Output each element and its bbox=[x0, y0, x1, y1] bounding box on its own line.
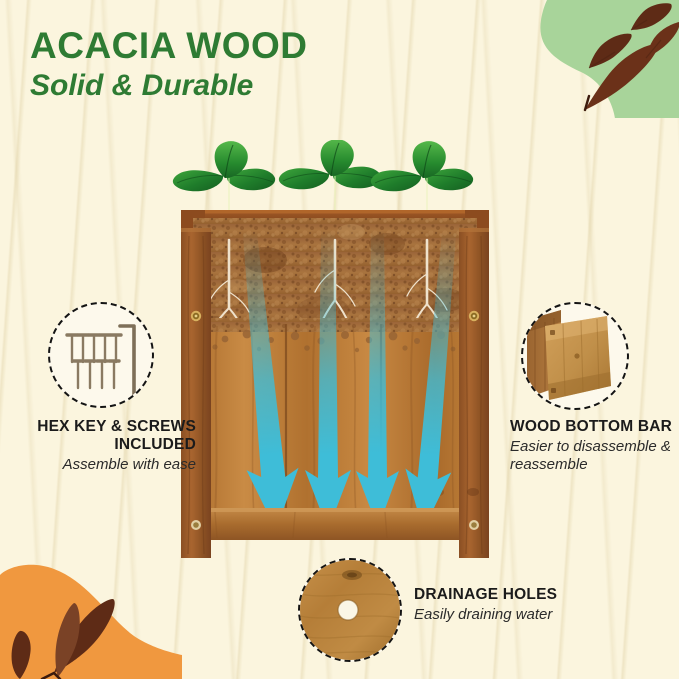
brass-screw bbox=[469, 520, 479, 530]
brass-screw bbox=[469, 311, 479, 321]
callout-circle-hex-key-screws[interactable] bbox=[48, 302, 154, 408]
feature-label-hex-key-screws: HEX KEY & SCREWS INCLUDED Assemble with … bbox=[6, 418, 196, 475]
callout-circle-drainage-holes[interactable] bbox=[298, 558, 402, 662]
feature-label-wood-bottom-bar: WOOD BOTTOM BAR Easier to disassemble & … bbox=[510, 418, 679, 475]
feature-subtext: Assemble with ease bbox=[6, 456, 196, 474]
hex-key-shape bbox=[120, 326, 134, 396]
planter-bottom-rail bbox=[193, 508, 477, 540]
feature-heading: WOOD BOTTOM BAR bbox=[510, 418, 679, 436]
top-right-corner-decoration bbox=[519, 0, 679, 118]
wood-disc-with-hole-icon bbox=[300, 560, 400, 660]
screws-and-hex-key-icon bbox=[50, 304, 152, 406]
title-block: ACACIA WOOD Solid & Durable bbox=[30, 26, 308, 103]
callout-circle-wood-bottom-bar[interactable] bbox=[521, 302, 629, 410]
feature-subtext: Easily draining water bbox=[414, 606, 664, 624]
page-subtitle: Solid & Durable bbox=[30, 69, 308, 103]
feature-heading: HEX KEY & SCREWS INCLUDED bbox=[6, 418, 196, 454]
brass-screw bbox=[191, 520, 201, 530]
planter-box-illustration bbox=[155, 140, 515, 560]
feature-subtext: Easier to disassemble & reassemble bbox=[510, 438, 679, 475]
page-title: ACACIA WOOD bbox=[30, 26, 308, 65]
wood-bottom-panel-icon bbox=[523, 304, 627, 408]
feature-heading: DRAINAGE HOLES bbox=[414, 586, 664, 604]
brass-screw bbox=[191, 311, 201, 321]
infographic-canvas: ACACIA WOOD Solid & Durable bbox=[0, 0, 679, 679]
feature-label-drainage-holes: DRAINAGE HOLES Easily draining water bbox=[414, 586, 664, 624]
